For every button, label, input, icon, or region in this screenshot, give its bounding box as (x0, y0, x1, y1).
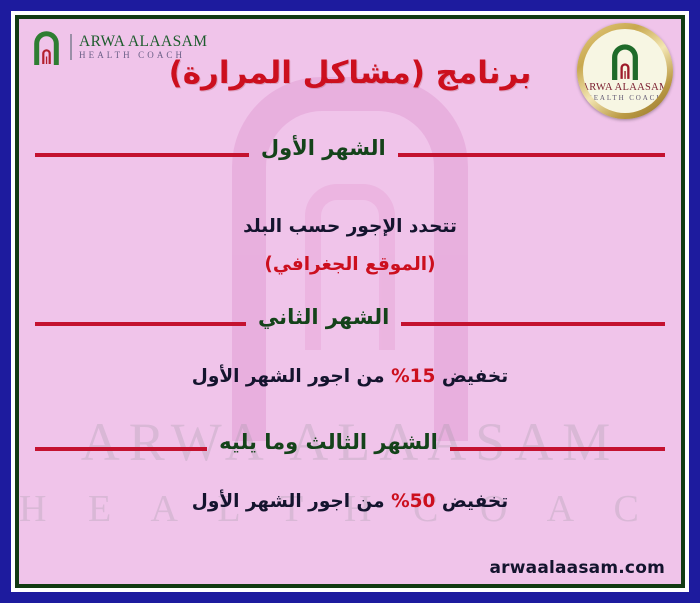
section-2-line-1: تخفيض 15% من اجور الشهر الأول (19, 366, 681, 387)
section-2-prefix: تخفيض (435, 366, 508, 387)
section-heading-month-1: الشهر الأول (35, 143, 665, 167)
logo-brand-name: ARWA ALAASAM (79, 34, 207, 50)
rule-left (401, 322, 665, 326)
rule-left (398, 153, 665, 157)
rule-right (35, 447, 207, 451)
rule-right (35, 322, 246, 326)
badge-brand-subtitle: HEALTH COACH (587, 94, 663, 102)
section-3-discount-value: 50% (391, 491, 435, 512)
section-1-line-1: تتحدد الإجور حسب البلد (19, 216, 681, 237)
section-2-suffix: من اجور الشهر الأول (192, 366, 391, 387)
section-3-prefix: تخفيض (435, 491, 508, 512)
section-3-suffix: من اجور الشهر الأول (192, 491, 391, 512)
rule-right (35, 153, 249, 157)
section-label-month-1: الشهر الأول (259, 136, 388, 160)
poster-canvas: ARWA ALAASAM H E A L T H C O A C H ARWA … (19, 19, 681, 584)
section-1-line-2: (الموقع الجغرافي) (19, 254, 681, 275)
section-heading-month-3: الشهر الثالث وما يليه (35, 437, 665, 461)
section-label-month-3: الشهر الثالث وما يليه (217, 430, 440, 454)
poster-root: ARWA ALAASAM H E A L T H C O A C H ARWA … (0, 0, 700, 603)
page-title: برنامج (مشاكل المرارة) (19, 55, 681, 91)
section-heading-month-2: الشهر الثاني (35, 312, 665, 336)
rule-left (450, 447, 665, 451)
section-2-discount-value: 15% (391, 366, 435, 387)
footer-website[interactable]: arwaalaasam.com (489, 558, 665, 578)
section-label-month-2: الشهر الثاني (256, 305, 391, 329)
section-3-line-1: تخفيض 50% من اجور الشهر الأول (19, 491, 681, 512)
